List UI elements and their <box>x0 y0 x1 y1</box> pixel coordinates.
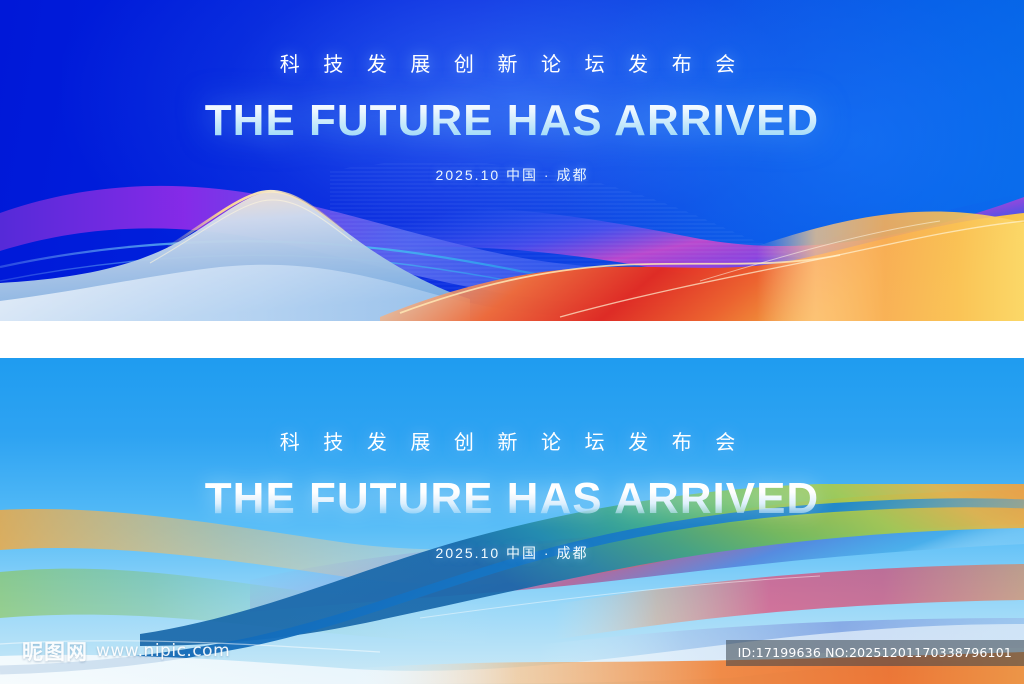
id-badge: ID:17199636 NO:20251201170338796101 <box>726 640 1024 666</box>
banner-top: 科 技 发 展 创 新 论 坛 发 布 会 THE FUTURE HAS ARR… <box>0 0 1024 321</box>
watermark: 昵图网 www.nipic.com <box>22 636 230 666</box>
banner-top-headline: THE FUTURE HAS ARRIVED <box>0 99 1024 143</box>
banner-bottom-chinese-title: 科 技 发 展 创 新 论 坛 发 布 会 <box>0 426 1024 455</box>
poster-canvas: 科 技 发 展 创 新 论 坛 发 布 会 THE FUTURE HAS ARR… <box>0 0 1024 684</box>
banner-top-chinese-title: 科 技 发 展 创 新 论 坛 发 布 会 <box>0 48 1024 77</box>
banner-divider-gap <box>0 321 1024 358</box>
banner-bottom-subtitle: 2025.10 中国 · 成都 <box>0 543 1024 563</box>
banner-bottom-headline: THE FUTURE HAS ARRIVED <box>0 477 1024 521</box>
banner-top-text-block: 科 技 发 展 创 新 论 坛 发 布 会 THE FUTURE HAS ARR… <box>0 0 1024 185</box>
banner-top-subtitle: 2025.10 中国 · 成都 <box>0 165 1024 185</box>
watermark-site-url: www.nipic.com <box>96 641 230 661</box>
banner-bottom-text-block: 科 技 发 展 创 新 论 坛 发 布 会 THE FUTURE HAS ARR… <box>0 358 1024 563</box>
watermark-site-name: 昵图网 <box>22 636 88 666</box>
